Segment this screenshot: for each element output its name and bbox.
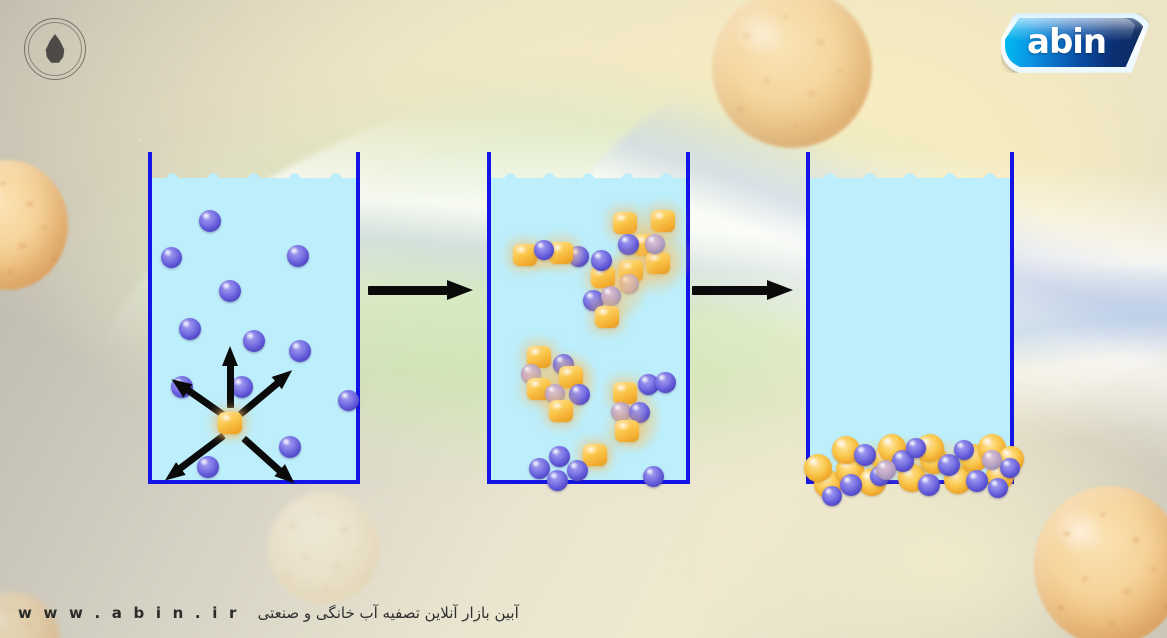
particle-coagulant — [218, 412, 242, 434]
tagline: آبین بازار آنلاین تصفیه آب خانگی و صنعتی — [258, 604, 519, 622]
particle-blue — [567, 460, 588, 481]
arrow-stage1-to-stage2 — [368, 280, 473, 300]
particle-blue — [591, 250, 612, 271]
particle-blue — [199, 210, 221, 232]
particle-orange — [583, 444, 607, 466]
particle-tan — [982, 450, 1002, 470]
beaker-water — [152, 178, 356, 480]
particle-blue — [918, 474, 940, 496]
water-surface — [152, 167, 356, 181]
particle-orange — [595, 306, 619, 328]
beaker-water — [810, 178, 1010, 480]
site-url[interactable]: w w w . a b i n . i r — [18, 604, 240, 622]
particle-blue — [655, 372, 676, 393]
particle-blue — [179, 318, 201, 340]
footer: w w w . a b i n . i r آبین بازار آنلاین … — [0, 580, 1167, 638]
abin-logo[interactable]: abin — [1001, 12, 1153, 74]
particle-orange — [613, 212, 637, 234]
beaker-flocculation — [487, 152, 690, 484]
particle-blue — [547, 470, 568, 491]
beaker-coagulation — [148, 152, 360, 484]
particle-blue — [643, 466, 664, 487]
droplet-badge — [24, 18, 86, 80]
particle-tan — [876, 460, 896, 480]
particle-orange — [549, 400, 573, 422]
particle-orange — [613, 382, 637, 404]
arrow-shaft — [692, 286, 768, 295]
beaker-sedimentation — [806, 152, 1014, 484]
particle-blue — [988, 478, 1008, 498]
particle-blue — [549, 446, 570, 467]
particle-tan — [611, 402, 631, 422]
particle-blue — [534, 240, 554, 260]
particle-orange — [615, 420, 639, 442]
particle-blue — [338, 390, 359, 411]
logo-wordmark: abin — [1027, 22, 1106, 62]
particle-blue — [822, 486, 842, 506]
particle-tan — [601, 286, 621, 306]
water-surface — [491, 167, 686, 181]
water-surface — [810, 167, 1010, 181]
arrow-stage2-to-stage3 — [692, 280, 792, 300]
arrow-head — [767, 280, 793, 300]
particle-orange — [651, 210, 675, 232]
particle-blue — [569, 384, 590, 405]
arrow-head — [447, 280, 473, 300]
particle-blue — [289, 340, 311, 362]
diagram-canvas: abin — [0, 0, 1167, 638]
particle-blue — [161, 247, 182, 268]
particle-blue — [906, 438, 926, 458]
particle-blue — [1000, 458, 1020, 478]
beaker-water — [491, 178, 686, 480]
particle-blue — [219, 280, 241, 302]
particle-blue — [243, 330, 265, 352]
particle-blue — [954, 440, 974, 460]
particle-blue — [279, 436, 301, 458]
force-arrow-up — [222, 344, 238, 408]
particle-blue — [840, 474, 862, 496]
particle-orange — [804, 454, 832, 482]
particle-blue — [966, 470, 988, 492]
particle-blue — [287, 245, 309, 267]
particle-blue — [854, 444, 876, 466]
arrow-shaft — [368, 286, 448, 295]
particle-tan — [645, 234, 665, 254]
